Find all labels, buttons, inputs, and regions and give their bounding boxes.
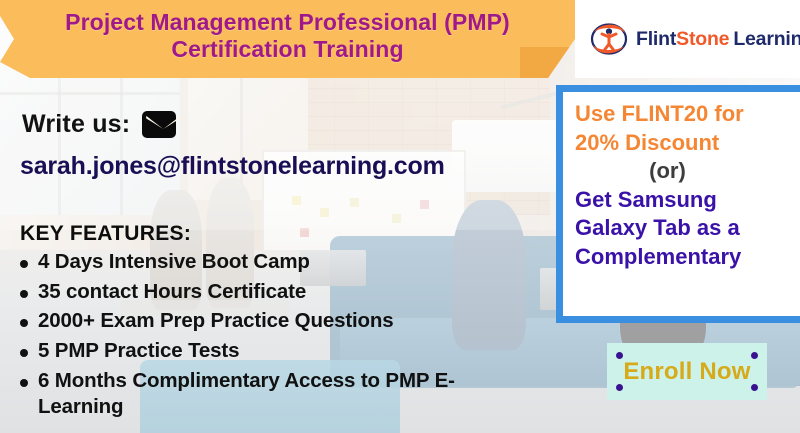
logo-word-flint: Flint (636, 28, 676, 50)
promo-banner: Project Management Professional (PMP) Ce… (0, 0, 800, 433)
list-item: 35 contact Hours Certificate (8, 279, 488, 306)
offer-gift-line2: Galaxy Tab as a (575, 214, 790, 243)
enroll-now-button[interactable]: Enroll Now (607, 343, 767, 400)
offer-discount-line2: 20% Discount (575, 129, 790, 158)
logo-word-stone: Stone (676, 28, 729, 50)
logo-word-learning: Learning (733, 28, 800, 50)
list-item: 6 Months Complimentary Access to PMP E-L… (8, 368, 488, 421)
title-ribbon: Project Management Professional (PMP) Ce… (0, 0, 575, 78)
page-title-line2: Certification Training (171, 36, 403, 62)
page-title: Project Management Professional (PMP) Ce… (51, 9, 524, 69)
key-features-list: 4 Days Intensive Boot Camp 35 contact Ho… (8, 249, 488, 424)
offer-gift-line3: Complementary (575, 243, 790, 272)
list-item: 5 PMP Practice Tests (8, 338, 488, 365)
envelope-icon (142, 111, 176, 138)
brand-logo[interactable]: FlintStoneLearning (575, 0, 800, 78)
offer-discount-line1: Use FLINT20 for (575, 100, 790, 129)
offer-gift-line1: Get Samsung (575, 186, 790, 215)
flintstone-swoosh-person-icon (589, 19, 629, 59)
write-us-label: Write us: (22, 110, 130, 139)
offer-box: Use FLINT20 for 20% Discount (or) Get Sa… (556, 85, 800, 323)
brand-logo-text: FlintStoneLearning (636, 28, 800, 51)
offer-separator: (or) (575, 157, 790, 186)
key-features-heading: KEY FEATURES: (20, 222, 191, 246)
contact-row: Write us: (22, 110, 176, 139)
list-item: 4 Days Intensive Boot Camp (8, 249, 488, 276)
page-title-line1: Project Management Professional (PMP) (65, 9, 510, 35)
contact-email[interactable]: sarah.jones@flintstonelearning.com (20, 152, 445, 181)
list-item: 2000+ Exam Prep Practice Questions (8, 308, 488, 335)
enroll-now-label: Enroll Now (607, 343, 767, 400)
